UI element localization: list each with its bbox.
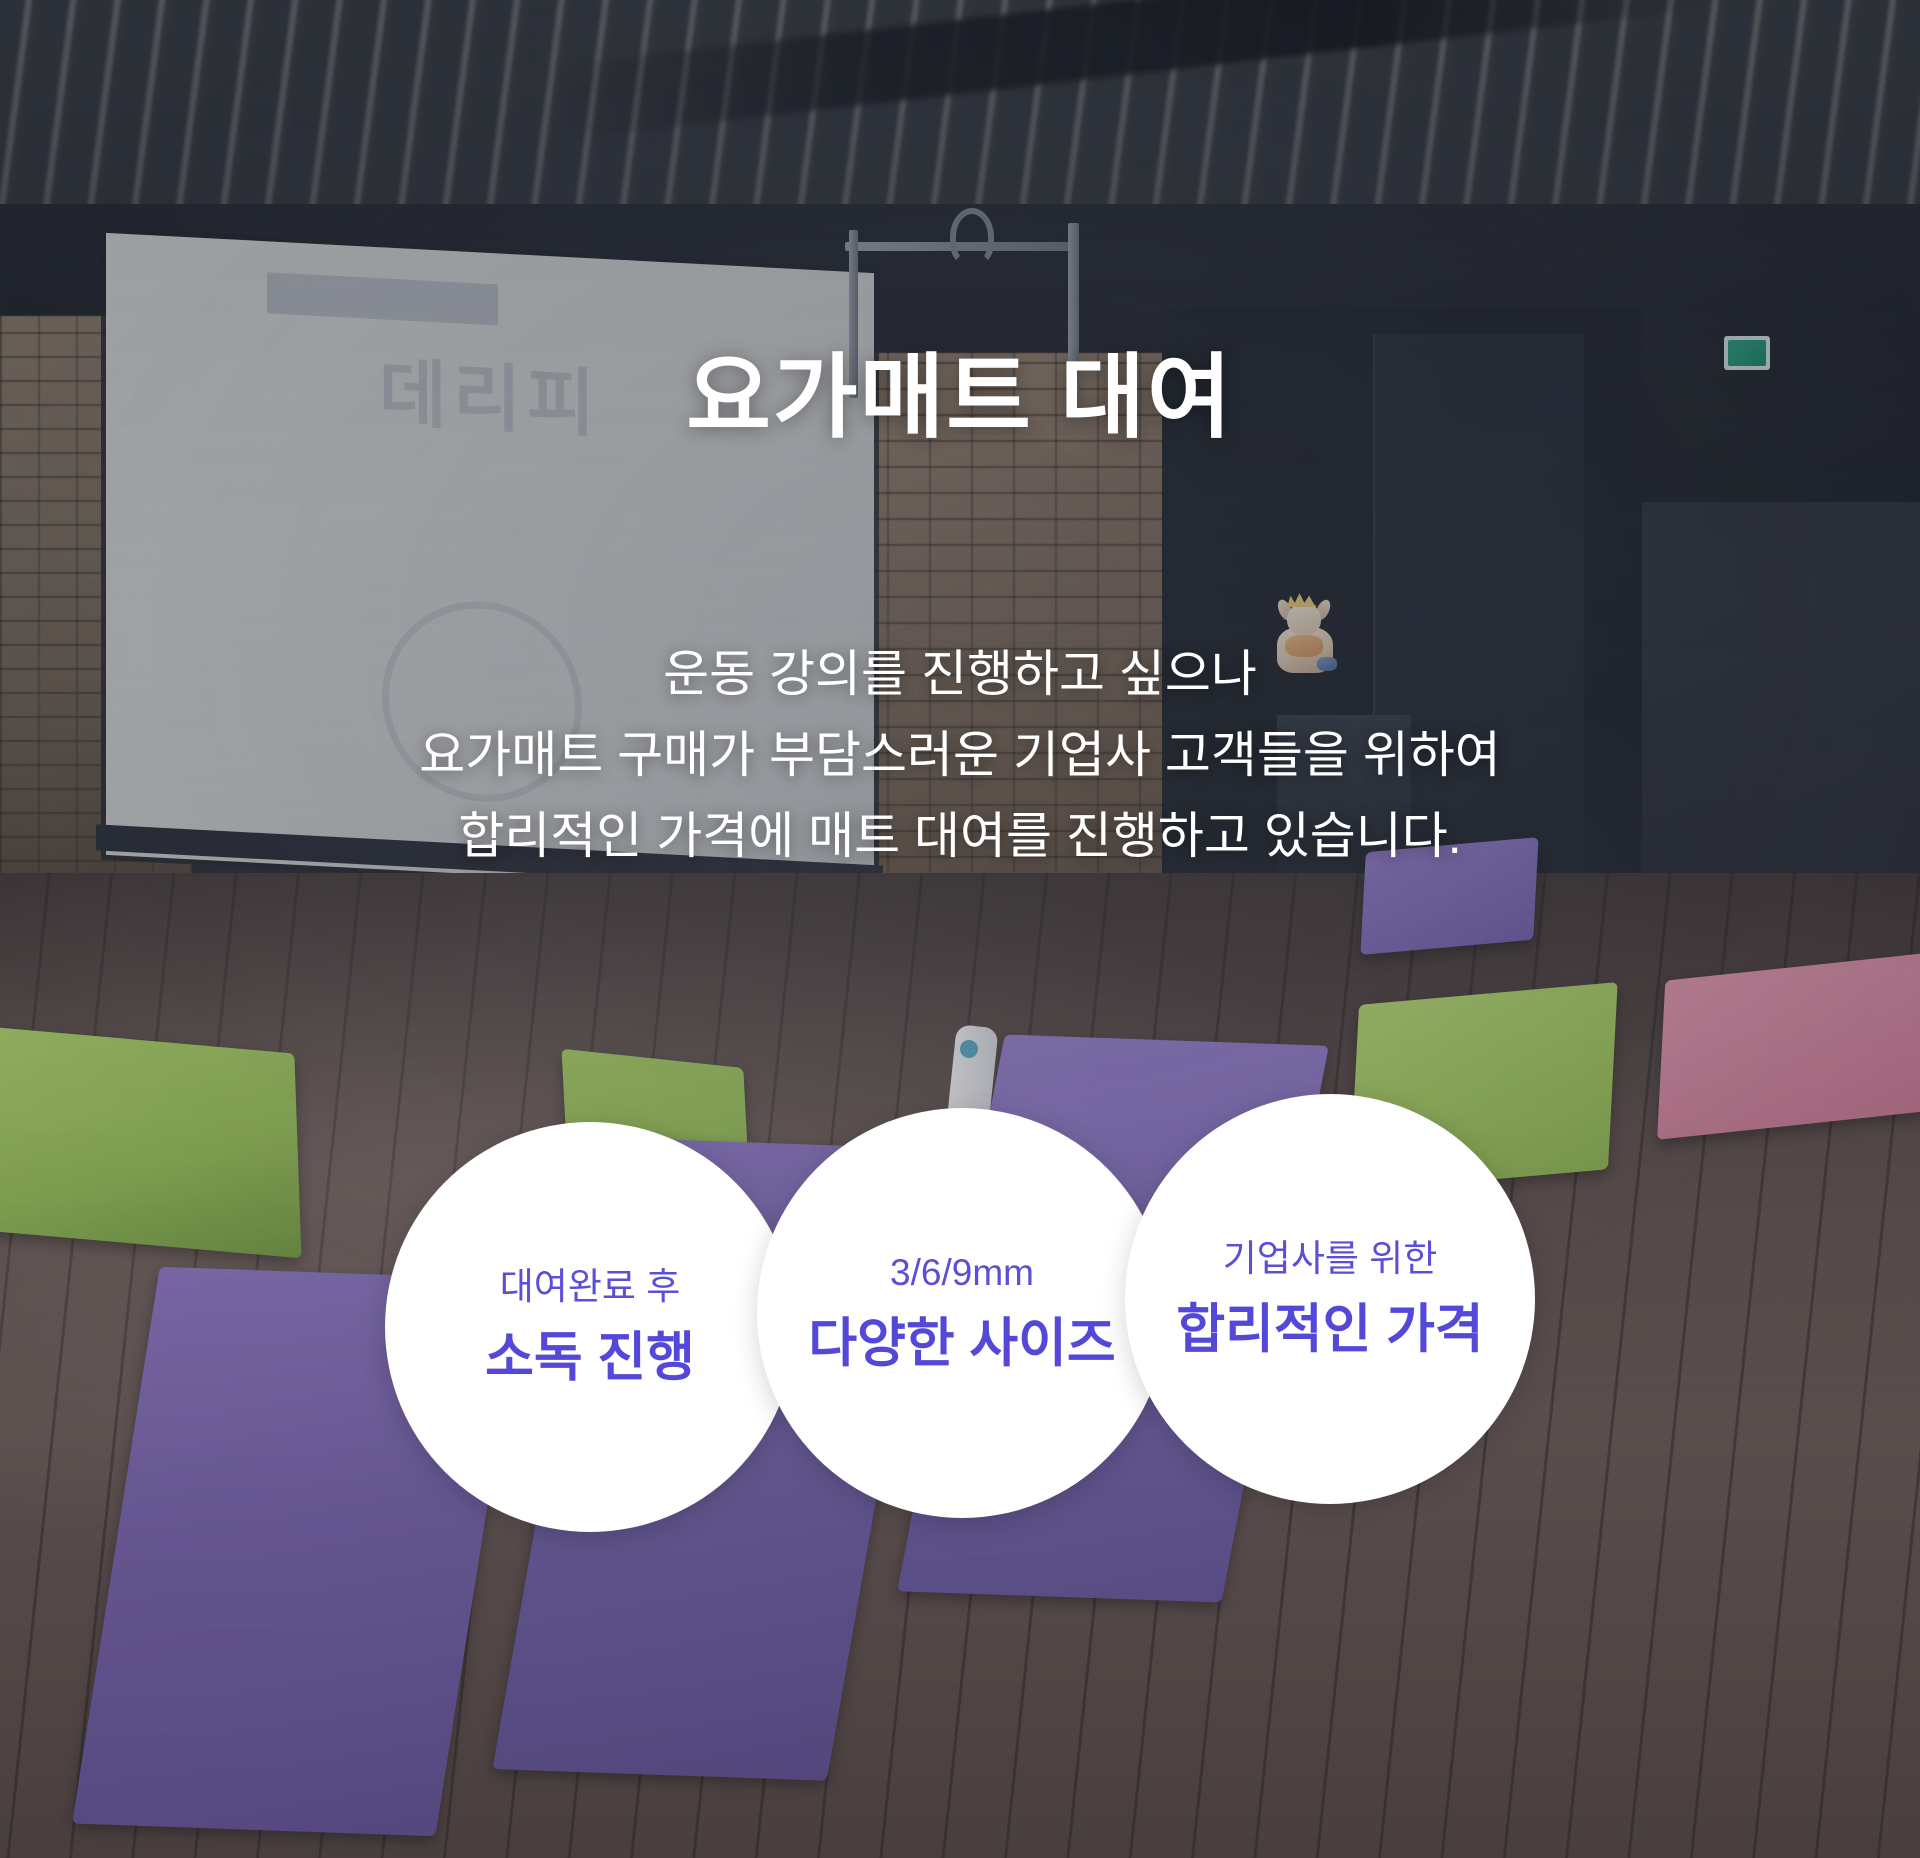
yoga-mat-rental-banner: 데리피 요가매트 대여 운동 강의를 진행하고 싶으나 요가매트 구매가 부담스… [0,0,1920,1858]
feature-badge-sizes[interactable]: 3/6/9mm 다양한 사이즈 [757,1108,1167,1518]
badge-title: 다양한 사이즈 [808,1315,1115,1373]
badge-title: 합리적인 가격 [1176,1301,1483,1359]
description-line-2: 요가매트 구매가 부담스러운 기업사 고객들을 위하여 [419,715,1500,796]
feature-badge-price[interactable]: 기업사를 위한 합리적인 가격 [1125,1094,1535,1504]
badge-subtitle: 3/6/9mm [890,1253,1034,1294]
banner-content: 요가매트 대여 운동 강의를 진행하고 싶으나 요가매트 구매가 부담스러운 기… [0,0,1920,1858]
badge-subtitle: 대여완료 후 [500,1267,680,1308]
description-line-3: 합리적인 가격에 매트 대여를 진행하고 있습니다. [419,796,1500,877]
description-line-1: 운동 강의를 진행하고 싶으나 [419,634,1500,715]
page-title: 요가매트 대여 [686,352,1233,444]
badge-title: 소독 진행 [485,1329,695,1387]
feature-badge-disinfection[interactable]: 대여완료 후 소독 진행 [385,1122,795,1532]
feature-badges: 대여완료 후 소독 진행 3/6/9mm 다양한 사이즈 기업사를 위한 합리적… [385,1108,1535,1532]
description-text: 운동 강의를 진행하고 싶으나 요가매트 구매가 부담스러운 기업사 고객들을 … [419,634,1500,877]
badge-subtitle: 기업사를 위한 [1223,1239,1438,1280]
